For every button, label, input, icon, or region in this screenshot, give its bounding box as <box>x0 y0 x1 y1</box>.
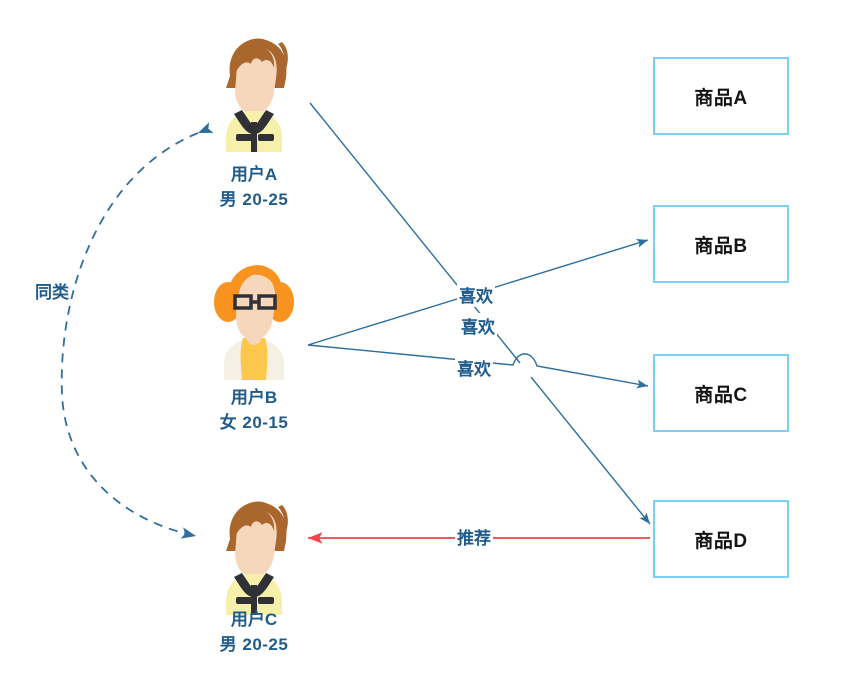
user-c-name: 用户C <box>154 608 354 633</box>
product-box-a[interactable]: 商品A <box>653 57 789 135</box>
edge-label-like-3: 喜欢 <box>455 355 493 380</box>
product-b-label: 商品B <box>694 231 747 258</box>
user-a-name: 用户A <box>154 163 354 188</box>
user-b-meta: 女 20-15 <box>154 411 354 436</box>
avatar-user-c <box>196 493 312 615</box>
user-c-meta: 男 20-25 <box>154 633 354 658</box>
caption-user-b: 用户B 女 20-15 <box>154 386 354 435</box>
user-a-meta: 男 20-25 <box>154 188 354 213</box>
product-box-c[interactable]: 商品C <box>653 354 789 432</box>
user-b-name: 用户B <box>154 386 354 411</box>
product-box-d[interactable]: 商品D <box>653 500 789 578</box>
caption-user-c: 用户C 男 20-25 <box>154 608 354 657</box>
caption-user-a: 用户A 男 20-25 <box>154 163 354 212</box>
product-box-b[interactable]: 商品B <box>653 205 789 283</box>
edge-label-recommend: 推荐 <box>455 524 493 549</box>
avatar-user-a <box>196 30 312 152</box>
edge-label-like-1: 喜欢 <box>457 282 495 307</box>
product-a-label: 商品A <box>694 83 747 110</box>
edge-label-like-2: 喜欢 <box>459 313 497 338</box>
avatar-user-b <box>196 258 312 380</box>
product-d-label: 商品D <box>694 526 747 553</box>
edge-label-similar: 同类 <box>33 278 71 303</box>
product-c-label: 商品C <box>694 380 747 407</box>
